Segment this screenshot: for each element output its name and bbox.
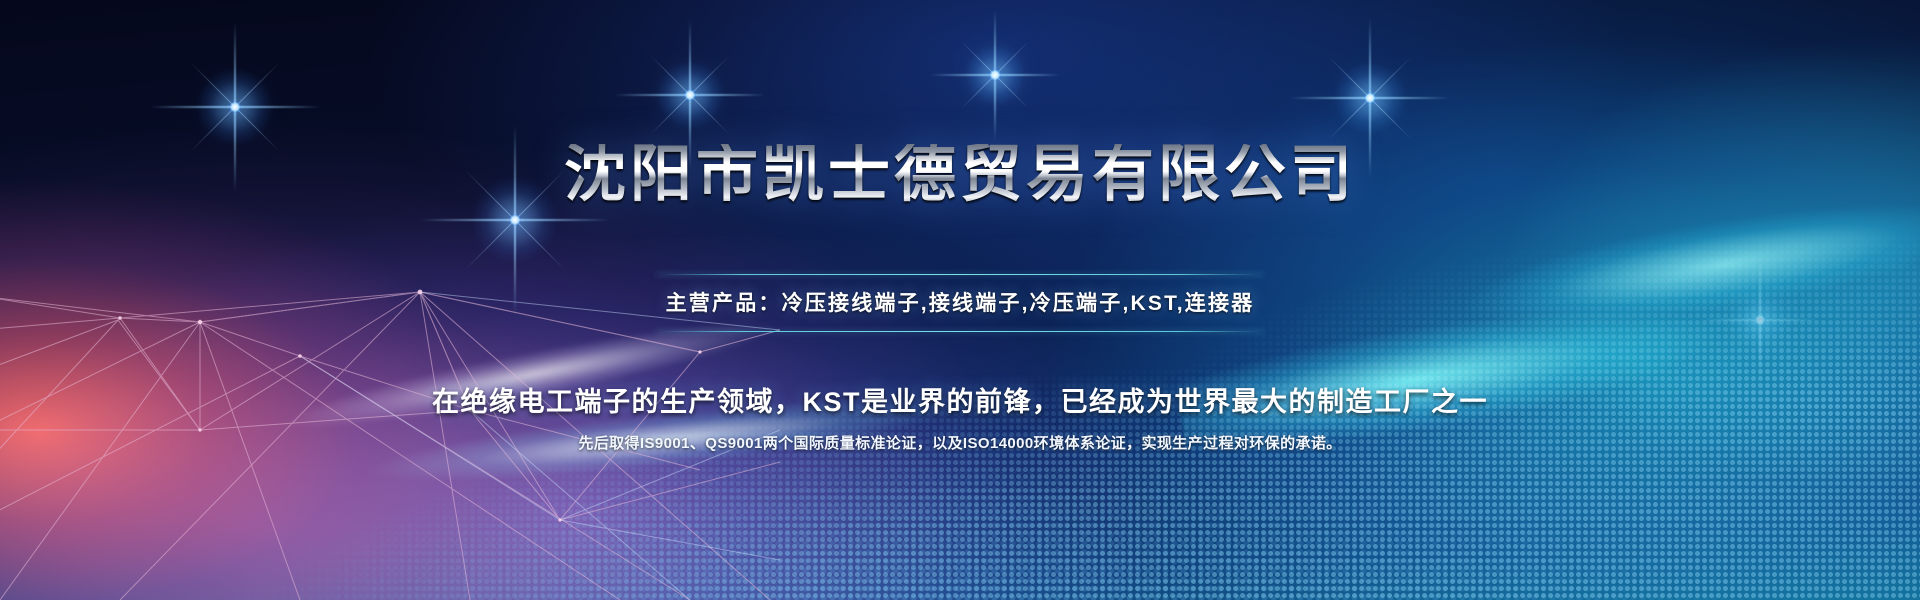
company-title: 沈阳市凯士德贸易有限公司: [564, 144, 1356, 206]
certification-note: 先后取得IS9001、QS9001两个国际质量标准论证，以及ISO14000环境…: [578, 432, 1341, 453]
hero-banner: 沈阳市凯士德贸易有限公司 主营产品：冷压接线端子,接线端子,冷压端子,KST,连…: [0, 0, 1920, 600]
divider-line-bottom: [656, 331, 1264, 332]
divider-line-top: [656, 274, 1264, 275]
tagline-text: 在绝缘电工端子的生产领域，KST是业界的前锋，已经成为世界最大的制造工厂之一: [432, 380, 1488, 419]
products-line: 主营产品：冷压接线端子,接线端子,冷压端子,KST,连接器: [666, 287, 1255, 317]
banner-content: 沈阳市凯士德贸易有限公司 主营产品：冷压接线端子,接线端子,冷压端子,KST,连…: [0, 0, 1920, 453]
